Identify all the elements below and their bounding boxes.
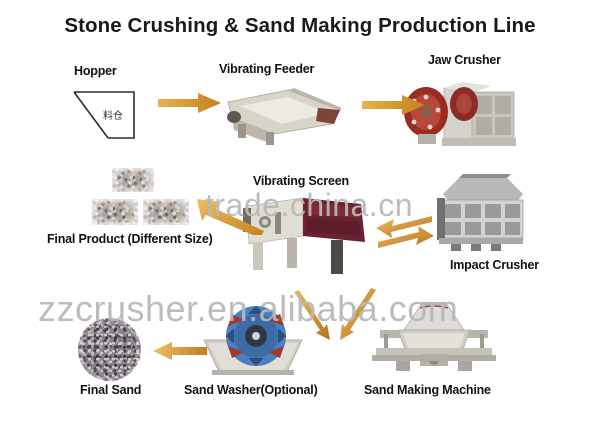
label-final-product: Final Product (Different Size) [47,232,213,246]
hopper-inner-label: 料仓 [103,107,123,122]
label-vibrating-screen: Vibrating Screen [253,174,349,188]
arrow-screen-to-sandmaker [338,288,384,342]
label-impact-crusher: Impact Crusher [450,258,539,272]
arrow-washer-to-final-sand [152,341,208,361]
label-sand-making-machine: Sand Making Machine [364,383,491,397]
page-title: Stone Crushing & Sand Making Production … [0,14,600,38]
arrow-screen-to-final-product [196,197,266,235]
arrow-sandmaker-to-washer [286,290,332,342]
final-sand-pile [78,318,141,381]
arrow-screen-impact-exchange [376,214,434,258]
label-vibrating-feeder: Vibrating Feeder [219,62,314,76]
label-jaw-crusher: Jaw Crusher [428,53,501,67]
production-line-diagram: Stone Crushing & Sand Making Production … [0,0,600,421]
vibrating-feeder-icon [222,84,342,148]
arrow-feeder-to-jaw [362,94,426,116]
sand-making-machine-icon [370,300,498,376]
gravel-pile-top [112,168,154,192]
arrow-hopper-to-feeder [158,92,222,114]
gravel-pile-left [92,199,138,225]
gravel-pile-right [143,199,189,225]
impact-crusher-icon [425,172,533,254]
label-hopper: Hopper [74,64,117,78]
label-sand-washer: Sand Washer(Optional) [184,383,318,397]
label-final-sand: Final Sand [80,383,141,397]
